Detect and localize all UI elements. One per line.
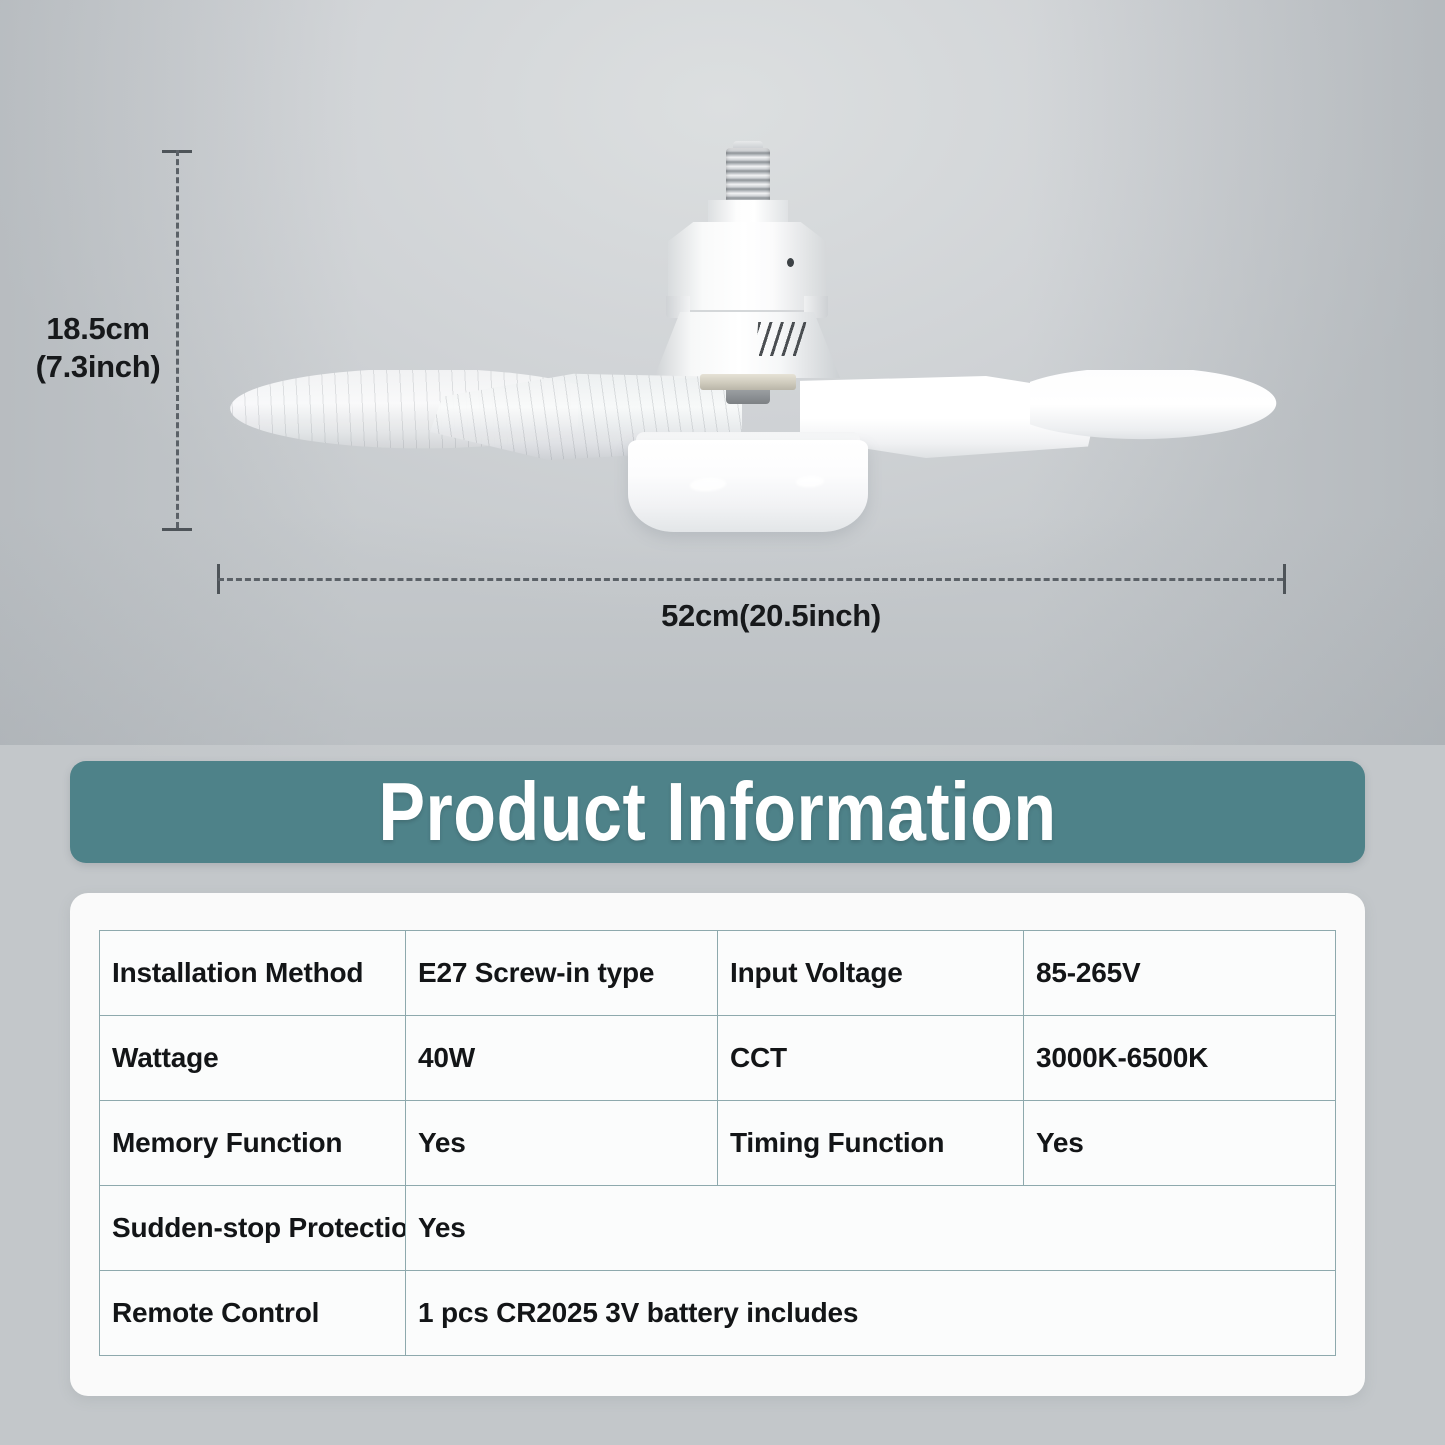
width-dimension-cap-right — [1283, 564, 1286, 594]
height-dimension-line — [176, 150, 179, 528]
spec-table-card: Installation Method E27 Screw-in type In… — [70, 893, 1365, 1396]
spec-label-input-voltage: Input Voltage — [718, 931, 1024, 1016]
table-row: Remote Control 1 pcs CR2025 3V battery i… — [100, 1271, 1336, 1356]
product-photo: 18.5cm (7.3inch) 52cm(20.5inch) — [0, 0, 1445, 745]
spec-value-wattage: 40W — [406, 1016, 718, 1101]
vent-slots — [756, 322, 806, 356]
led-light-dome — [628, 440, 868, 532]
spec-label-wattage: Wattage — [100, 1016, 406, 1101]
spec-label-cct: CCT — [718, 1016, 1024, 1101]
product-information-banner: Product Information — [70, 761, 1365, 863]
spec-value-installation-method: E27 Screw-in type — [406, 931, 718, 1016]
spec-label-remote-control: Remote Control — [100, 1271, 406, 1356]
table-row: Sudden-stop Protection Yes — [100, 1186, 1336, 1271]
spec-value-remote-control: 1 pcs CR2025 3V battery includes — [406, 1271, 1336, 1356]
table-row: Memory Function Yes Timing Function Yes — [100, 1101, 1336, 1186]
spec-label-timing-function: Timing Function — [718, 1101, 1024, 1186]
spec-value-memory-function: Yes — [406, 1101, 718, 1186]
height-label-line-2: (7.3inch) — [24, 348, 172, 386]
width-label-text: 52cm(20.5inch) — [661, 598, 881, 634]
spec-label-memory-function: Memory Function — [100, 1101, 406, 1186]
height-dimension-cap-bottom — [162, 528, 192, 531]
height-dimension-label: 18.5cm (7.3inch) — [24, 310, 172, 386]
housing-skirt — [654, 312, 840, 378]
spec-value-timing-function: Yes — [1024, 1101, 1336, 1186]
banner-title: Product Information — [378, 775, 1056, 849]
product-info-page: 18.5cm (7.3inch) 52cm(20.5inch) Product … — [0, 0, 1445, 1445]
motor-shaft — [726, 390, 770, 404]
e27-screw-base — [726, 148, 770, 204]
spec-value-cct: 3000K-6500K — [1024, 1016, 1336, 1101]
fan-blade-right-outer — [1030, 370, 1292, 442]
table-row: Installation Method E27 Screw-in type In… — [100, 931, 1336, 1016]
ir-sensor-icon — [787, 258, 794, 267]
blade-hub-plate — [700, 374, 796, 390]
table-row: Wattage 40W CCT 3000K-6500K — [100, 1016, 1336, 1101]
spec-label-sudden-stop-protection: Sudden-stop Protection — [100, 1186, 406, 1271]
height-label-line-1: 18.5cm — [24, 310, 172, 348]
width-dimension-line — [218, 578, 1283, 581]
motor-housing — [668, 222, 826, 310]
spec-label-installation-method: Installation Method — [100, 931, 406, 1016]
spec-value-sudden-stop-protection: Yes — [406, 1186, 1336, 1271]
width-dimension-label: 52cm(20.5inch) — [0, 598, 1445, 634]
spec-value-input-voltage: 85-265V — [1024, 931, 1336, 1016]
specification-table: Installation Method E27 Screw-in type In… — [99, 930, 1336, 1356]
